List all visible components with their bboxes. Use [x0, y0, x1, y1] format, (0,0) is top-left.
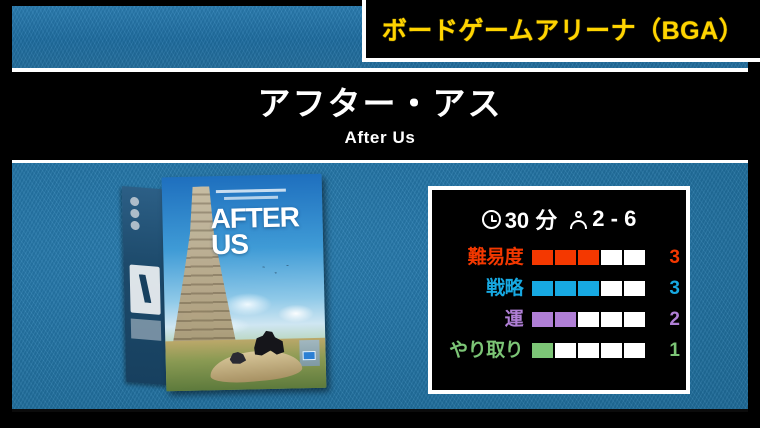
- stat-bar: [532, 250, 645, 265]
- stat-bar: [532, 343, 645, 358]
- stat-rows: 難易度3戦略3運2やり取り1: [432, 242, 686, 366]
- stat-bar: [532, 312, 645, 327]
- stat-segment-empty: [601, 250, 622, 265]
- game-box-art: AFTER US: [122, 174, 327, 394]
- game-title-en: After Us: [345, 129, 416, 146]
- stat-segment-empty: [601, 281, 622, 296]
- stat-segment-empty: [624, 281, 645, 296]
- box-credits-text: [216, 189, 286, 203]
- box-spine-bar: [131, 318, 162, 340]
- stat-segment-filled: [578, 281, 599, 296]
- person-icon: [569, 210, 588, 229]
- box-sign-icon: [303, 351, 316, 360]
- stat-segment-filled: [555, 250, 576, 265]
- playercount-value: 2 - 6: [592, 206, 636, 232]
- info-panel-summary-row: 30 分 2 - 6: [432, 190, 686, 242]
- playtime-value: 30 分: [505, 203, 558, 235]
- stat-value: 1: [645, 340, 680, 362]
- box-spine-dots-icon: [130, 197, 157, 229]
- stat-segment-empty: [624, 312, 645, 327]
- stat-label: 難易度: [436, 248, 532, 267]
- stat-segment-filled: [578, 250, 599, 265]
- box-spine-logo-icon: [130, 264, 161, 314]
- stat-segment-empty: [555, 343, 576, 358]
- playercount-group: 2 - 6: [569, 206, 636, 232]
- box-front-cover: AFTER US: [162, 174, 327, 392]
- stat-segment-empty: [601, 312, 622, 327]
- game-title-jp: アフター・アス: [258, 87, 503, 120]
- stat-segment-empty: [601, 343, 622, 358]
- site-banner: ボードゲームアリーナ（BGA）: [362, 0, 760, 62]
- box-cover-title-line1: AFTER: [210, 204, 299, 232]
- playtime-group: 30 分: [482, 203, 558, 235]
- stat-segment-filled: [555, 281, 576, 296]
- slide-root: ボードゲームアリーナ（BGA） アフター・アス After Us AFTER U…: [0, 0, 760, 428]
- stat-segment-empty: [578, 312, 599, 327]
- stat-segment-filled: [532, 250, 553, 265]
- stat-segment-empty: [624, 250, 645, 265]
- stat-segment-filled: [555, 312, 576, 327]
- box-cover-title-line2: US: [211, 230, 300, 258]
- stat-label: 運: [436, 310, 532, 329]
- stat-row: 運2: [432, 304, 686, 335]
- stat-value: 3: [645, 278, 680, 300]
- stat-segment-empty: [578, 343, 599, 358]
- bottom-divider: [12, 409, 748, 412]
- stat-segment-filled: [532, 312, 553, 327]
- title-block: アフター・アス After Us: [0, 72, 760, 160]
- stat-segment-filled: [532, 343, 553, 358]
- stat-row: 戦略3: [432, 273, 686, 304]
- box-cover-title: AFTER US: [210, 204, 299, 257]
- stat-label: やり取り: [436, 341, 532, 360]
- birds-icon: [258, 262, 298, 283]
- clock-icon: [482, 210, 501, 229]
- stat-segment-filled: [532, 281, 553, 296]
- stat-value: 2: [645, 309, 680, 331]
- stat-row: 難易度3: [432, 242, 686, 273]
- stat-row: やり取り1: [432, 335, 686, 366]
- stat-value: 3: [645, 247, 680, 269]
- site-banner-label: ボードゲームアリーナ（BGA）: [382, 11, 744, 47]
- stat-label: 戦略: [436, 279, 532, 298]
- game-info-panel: 30 分 2 - 6 難易度3戦略3運2やり取り1: [428, 186, 690, 394]
- stat-segment-empty: [624, 343, 645, 358]
- stat-bar: [532, 281, 645, 296]
- main-content-area: AFTER US 30 分 2 - 6: [12, 163, 748, 412]
